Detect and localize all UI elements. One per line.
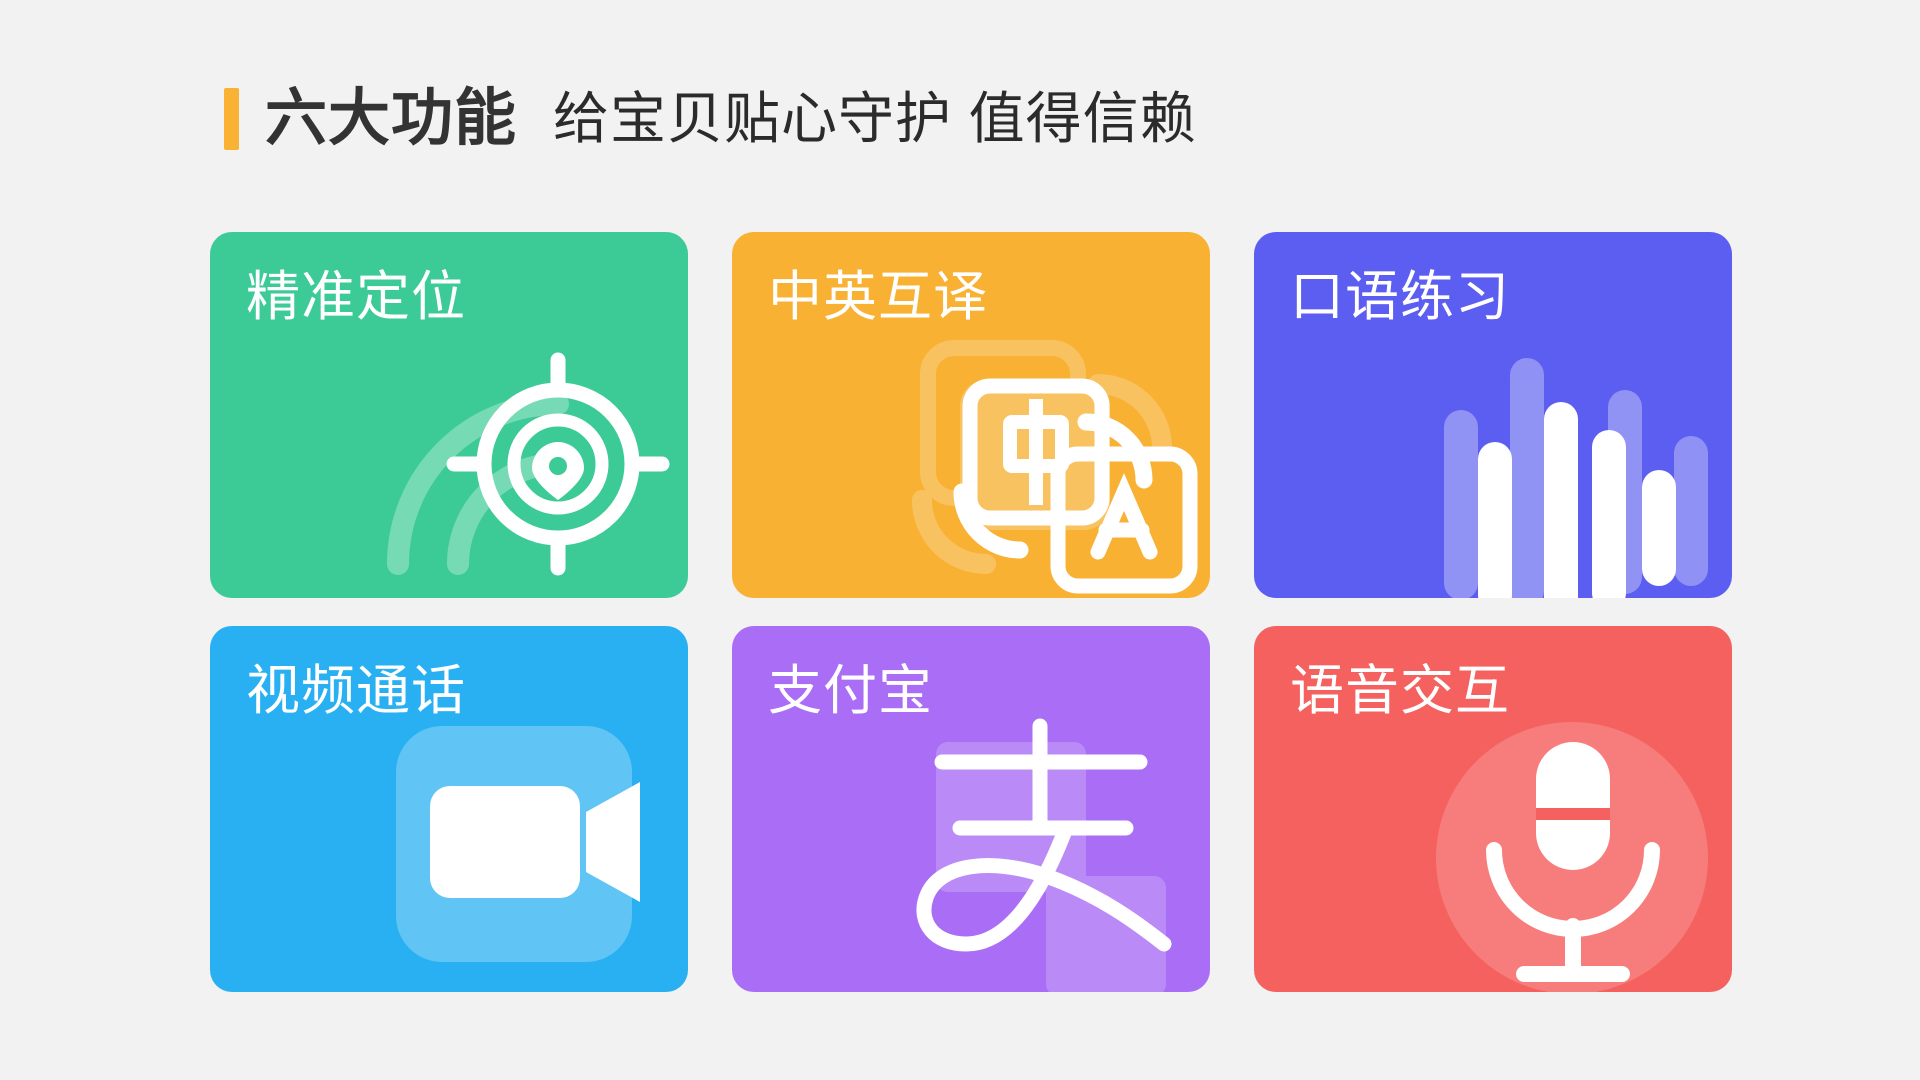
- page-title: 六大功能: [265, 88, 517, 150]
- card-title: 精准定位: [246, 268, 466, 327]
- translate-icon: [890, 314, 1210, 598]
- feature-card-voice-interaction[interactable]: 语音交互: [1254, 626, 1732, 992]
- card-title: 视频通话: [246, 662, 466, 721]
- page-subtitle: 给宝贝贴心守护 值得信赖: [553, 91, 1197, 147]
- orange-accent-bar: [224, 88, 239, 150]
- feature-card-alipay[interactable]: 支付宝: [732, 626, 1210, 992]
- feature-card-grid: 精准定位: [210, 232, 1732, 992]
- card-title: 口语练习: [1290, 268, 1510, 327]
- video-camera-icon: [368, 708, 688, 992]
- alipay-icon: [890, 708, 1210, 992]
- page-header: 六大功能 给宝贝贴心守护 值得信赖: [224, 88, 1197, 150]
- microphone-icon: [1412, 708, 1732, 992]
- card-title: 中英互译: [768, 268, 988, 327]
- audio-waveform-icon: [1412, 314, 1732, 598]
- feature-card-speaking-practice[interactable]: 口语练习: [1254, 232, 1732, 598]
- feature-card-video-call[interactable]: 视频通话: [210, 626, 688, 992]
- card-title: 支付宝: [768, 662, 933, 721]
- card-title: 语音交互: [1290, 662, 1510, 721]
- feature-card-translate[interactable]: 中英互译: [732, 232, 1210, 598]
- feature-grid-page: 六大功能 给宝贝贴心守护 值得信赖 精准定位: [0, 0, 1920, 1080]
- target-location-icon: [368, 314, 688, 598]
- feature-card-location[interactable]: 精准定位: [210, 232, 688, 598]
